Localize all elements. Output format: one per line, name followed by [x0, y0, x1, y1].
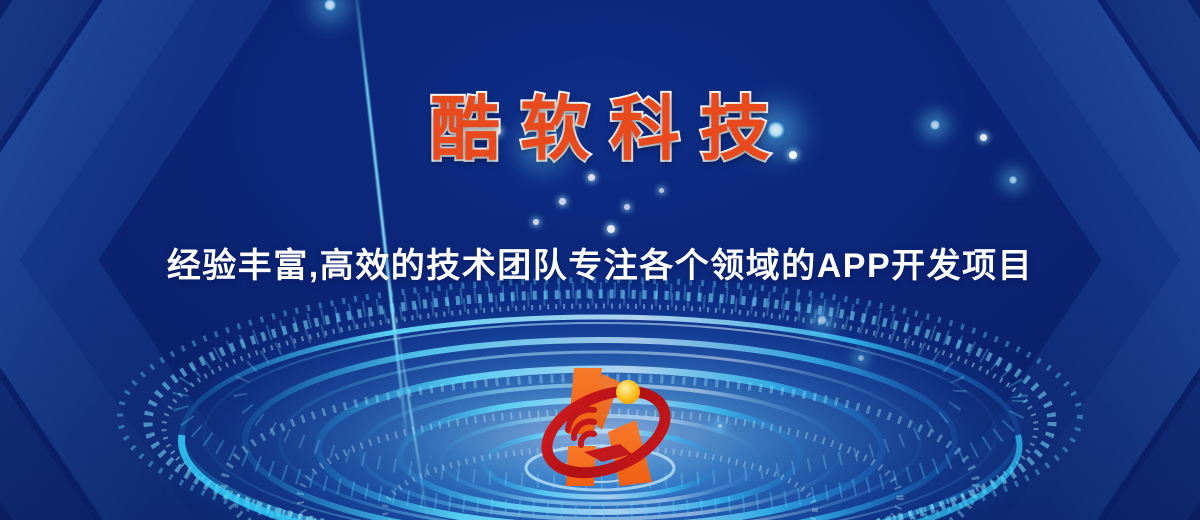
glow-particle	[929, 119, 941, 131]
glow-particle	[323, 0, 337, 12]
kuruan-k-logo	[524, 360, 692, 500]
glow-particle	[766, 120, 786, 140]
glow-particle	[1008, 175, 1018, 185]
promo-banner: 酷软科技 经验丰富,高效的技术团队专注各个领域的APP开发项目	[0, 0, 1200, 520]
glow-particle	[607, 225, 615, 233]
page-title: 酷软科技	[410, 94, 790, 164]
glow-particle	[559, 198, 566, 205]
bird-accent	[584, 444, 632, 462]
glow-particle	[857, 354, 865, 362]
light-beam-secondary	[392, 300, 430, 520]
glow-particle	[588, 174, 595, 181]
glow-particle	[569, 123, 575, 129]
page-subtitle: 经验丰富,高效的技术团队专注各个领域的APP开发项目	[167, 246, 1033, 287]
glow-particle	[493, 127, 501, 135]
orbit-swoosh	[535, 375, 677, 488]
chevron-left-shape	[0, 0, 290, 520]
glow-particle	[717, 423, 723, 429]
chevron-right-shape	[910, 0, 1200, 520]
glow-particle	[980, 134, 987, 141]
sun-dot	[616, 380, 640, 404]
glow-particle	[789, 151, 797, 159]
glow-particle	[816, 314, 828, 326]
glow-particle	[533, 219, 539, 225]
k-letter	[566, 368, 652, 486]
title-container: 酷软科技	[0, 94, 1200, 164]
subtitle-container: 经验丰富,高效的技术团队专注各个领域的APP开发项目	[0, 246, 1200, 287]
glow-particle	[534, 137, 552, 155]
tech-ring-hud	[0, 270, 1200, 520]
glow-particle	[624, 204, 630, 210]
glow-particle	[659, 188, 664, 193]
signal-waves	[568, 410, 594, 445]
light-beam	[352, 0, 409, 447]
